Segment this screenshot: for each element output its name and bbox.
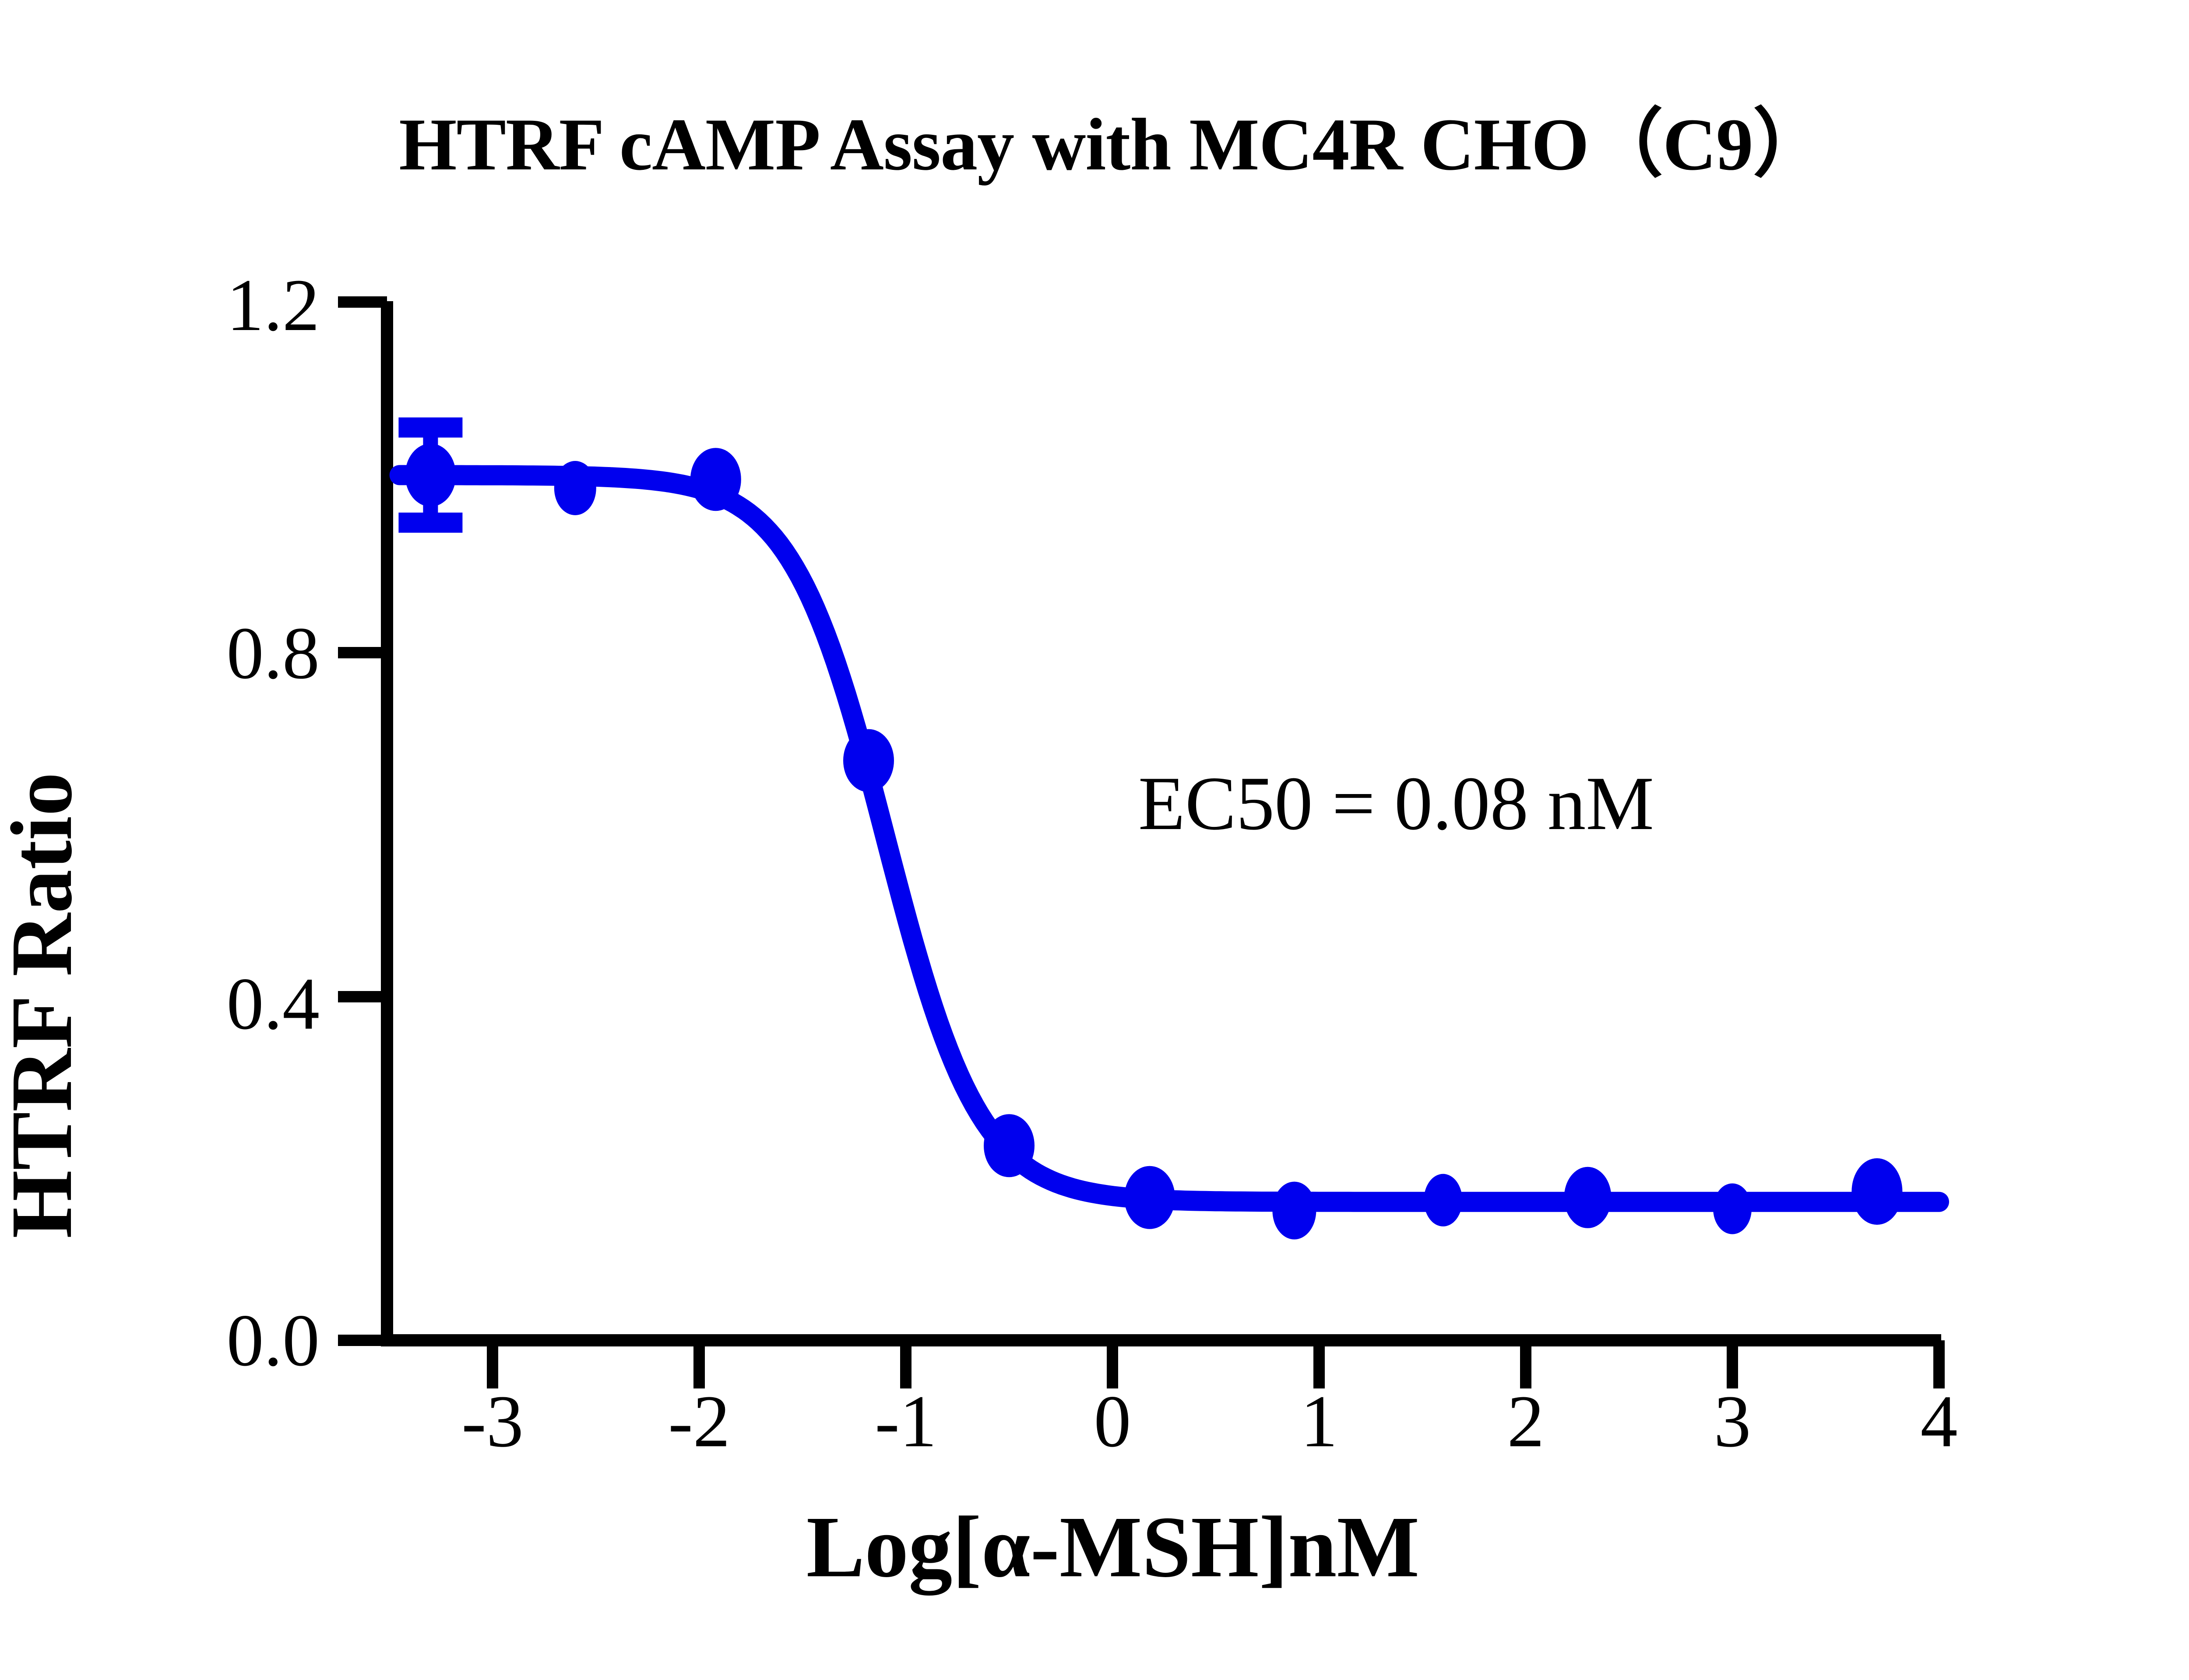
data-point (1124, 1166, 1175, 1229)
plot-area (0, 0, 2189, 1680)
data-point (1424, 1174, 1462, 1227)
data-point (1851, 1158, 1902, 1225)
data-point (554, 461, 596, 515)
data-points (405, 443, 1902, 1239)
x-axis-ticks (493, 1340, 1939, 1388)
data-point (1564, 1167, 1612, 1228)
data-point (843, 729, 894, 792)
y-axis-ticks (338, 302, 387, 1340)
data-point (1713, 1184, 1752, 1234)
data-point (1272, 1182, 1316, 1240)
data-point (405, 443, 456, 506)
data-point (690, 448, 741, 511)
chart-figure: HTRF cAMP Assay with MC4R CHO（C9） HTRF R… (0, 0, 2189, 1680)
fit-curve (400, 475, 1939, 1202)
data-point (984, 1114, 1035, 1177)
